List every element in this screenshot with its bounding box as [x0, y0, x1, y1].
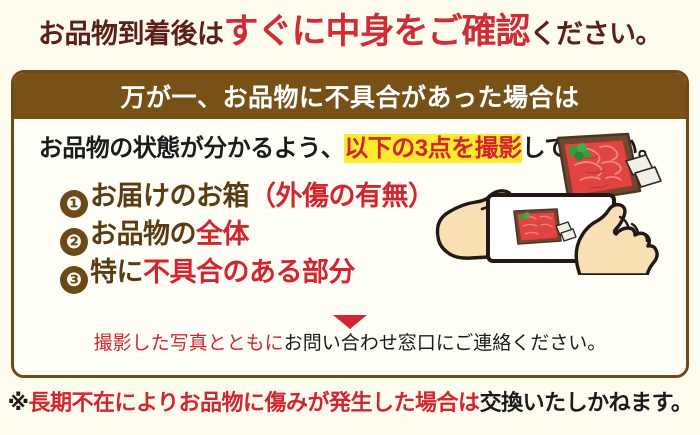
number-badge-2: ❷ [60, 228, 88, 256]
card-body: お品物の状態が分かるよう、以下の3点を撮影してくだい。 ❶お届けのお箱（外傷の有… [14, 119, 686, 375]
number-badge-3: ❸ [60, 266, 88, 294]
illustration-svg [430, 125, 680, 275]
list-item-2-brown: お品物の [90, 219, 196, 249]
card-footer-red: 撮影した写真とともに [94, 333, 284, 354]
list-item-3-red: 不具合のある部分 [143, 257, 355, 287]
headline-tail: ください。 [530, 19, 663, 49]
promotion-page: お品物到着後はすぐに中身をご確認ください。 万が一、お品物に不具合があった場合は… [0, 0, 700, 435]
card-footer-black: お問い合わせ窓口にご連絡ください。 [284, 333, 607, 354]
list-item: ❶お届けのお箱（外傷の有無） [60, 177, 480, 215]
meat-tray-large-icon [558, 134, 661, 202]
instruction-card: 万が一、お品物に不具合があった場合は お品物の状態が分かるよう、以下の3点を撮影… [11, 70, 689, 378]
list-item: ❷お品物の全体 [60, 215, 480, 253]
number-badge-1: ❶ [60, 190, 88, 218]
note-suffix: 交換いたしかねます。 [480, 390, 693, 415]
list-item-1-brown: お届けのお箱 [90, 181, 249, 211]
instruction-before: お品物の状態が分かるよう、 [39, 135, 345, 162]
headline-emphasis: すぐに中身をご確認 [223, 12, 529, 51]
card-header-title: 万が一、お品物に不具合があった場合は [120, 78, 579, 114]
list-item-2-red: 全体 [196, 219, 249, 249]
list-item-1-red: （外傷の有無） [249, 181, 435, 211]
card-footer-line: 撮影した写真とともにお問い合わせ窓口にご連絡ください。 [14, 334, 686, 353]
bottom-note: ※長期不在によりお品物に傷みが発生した場合は交換いたしかねます。 [0, 392, 700, 414]
list-item-3-brown: 特に [90, 257, 143, 287]
photo-checklist: ❶お届けのお箱（外傷の有無） ❷お品物の全体 ❸特に不具合のある部分 [60, 177, 480, 291]
headline-lead: お品物到着後は [38, 19, 224, 49]
list-item: ❸特に不具合のある部分 [60, 253, 480, 291]
page-headline: お品物到着後はすぐに中身をご確認ください。 [0, 14, 700, 49]
illustration-hands-phone-meat [430, 125, 680, 275]
card-header-band: 万が一、お品物に不具合があった場合は [14, 73, 686, 119]
note-red: 長期不在によりお品物に傷みが発生した場合は [29, 390, 480, 415]
note-prefix: ※ [8, 390, 29, 415]
down-arrow [14, 315, 686, 329]
triangle-down-icon [333, 315, 367, 329]
